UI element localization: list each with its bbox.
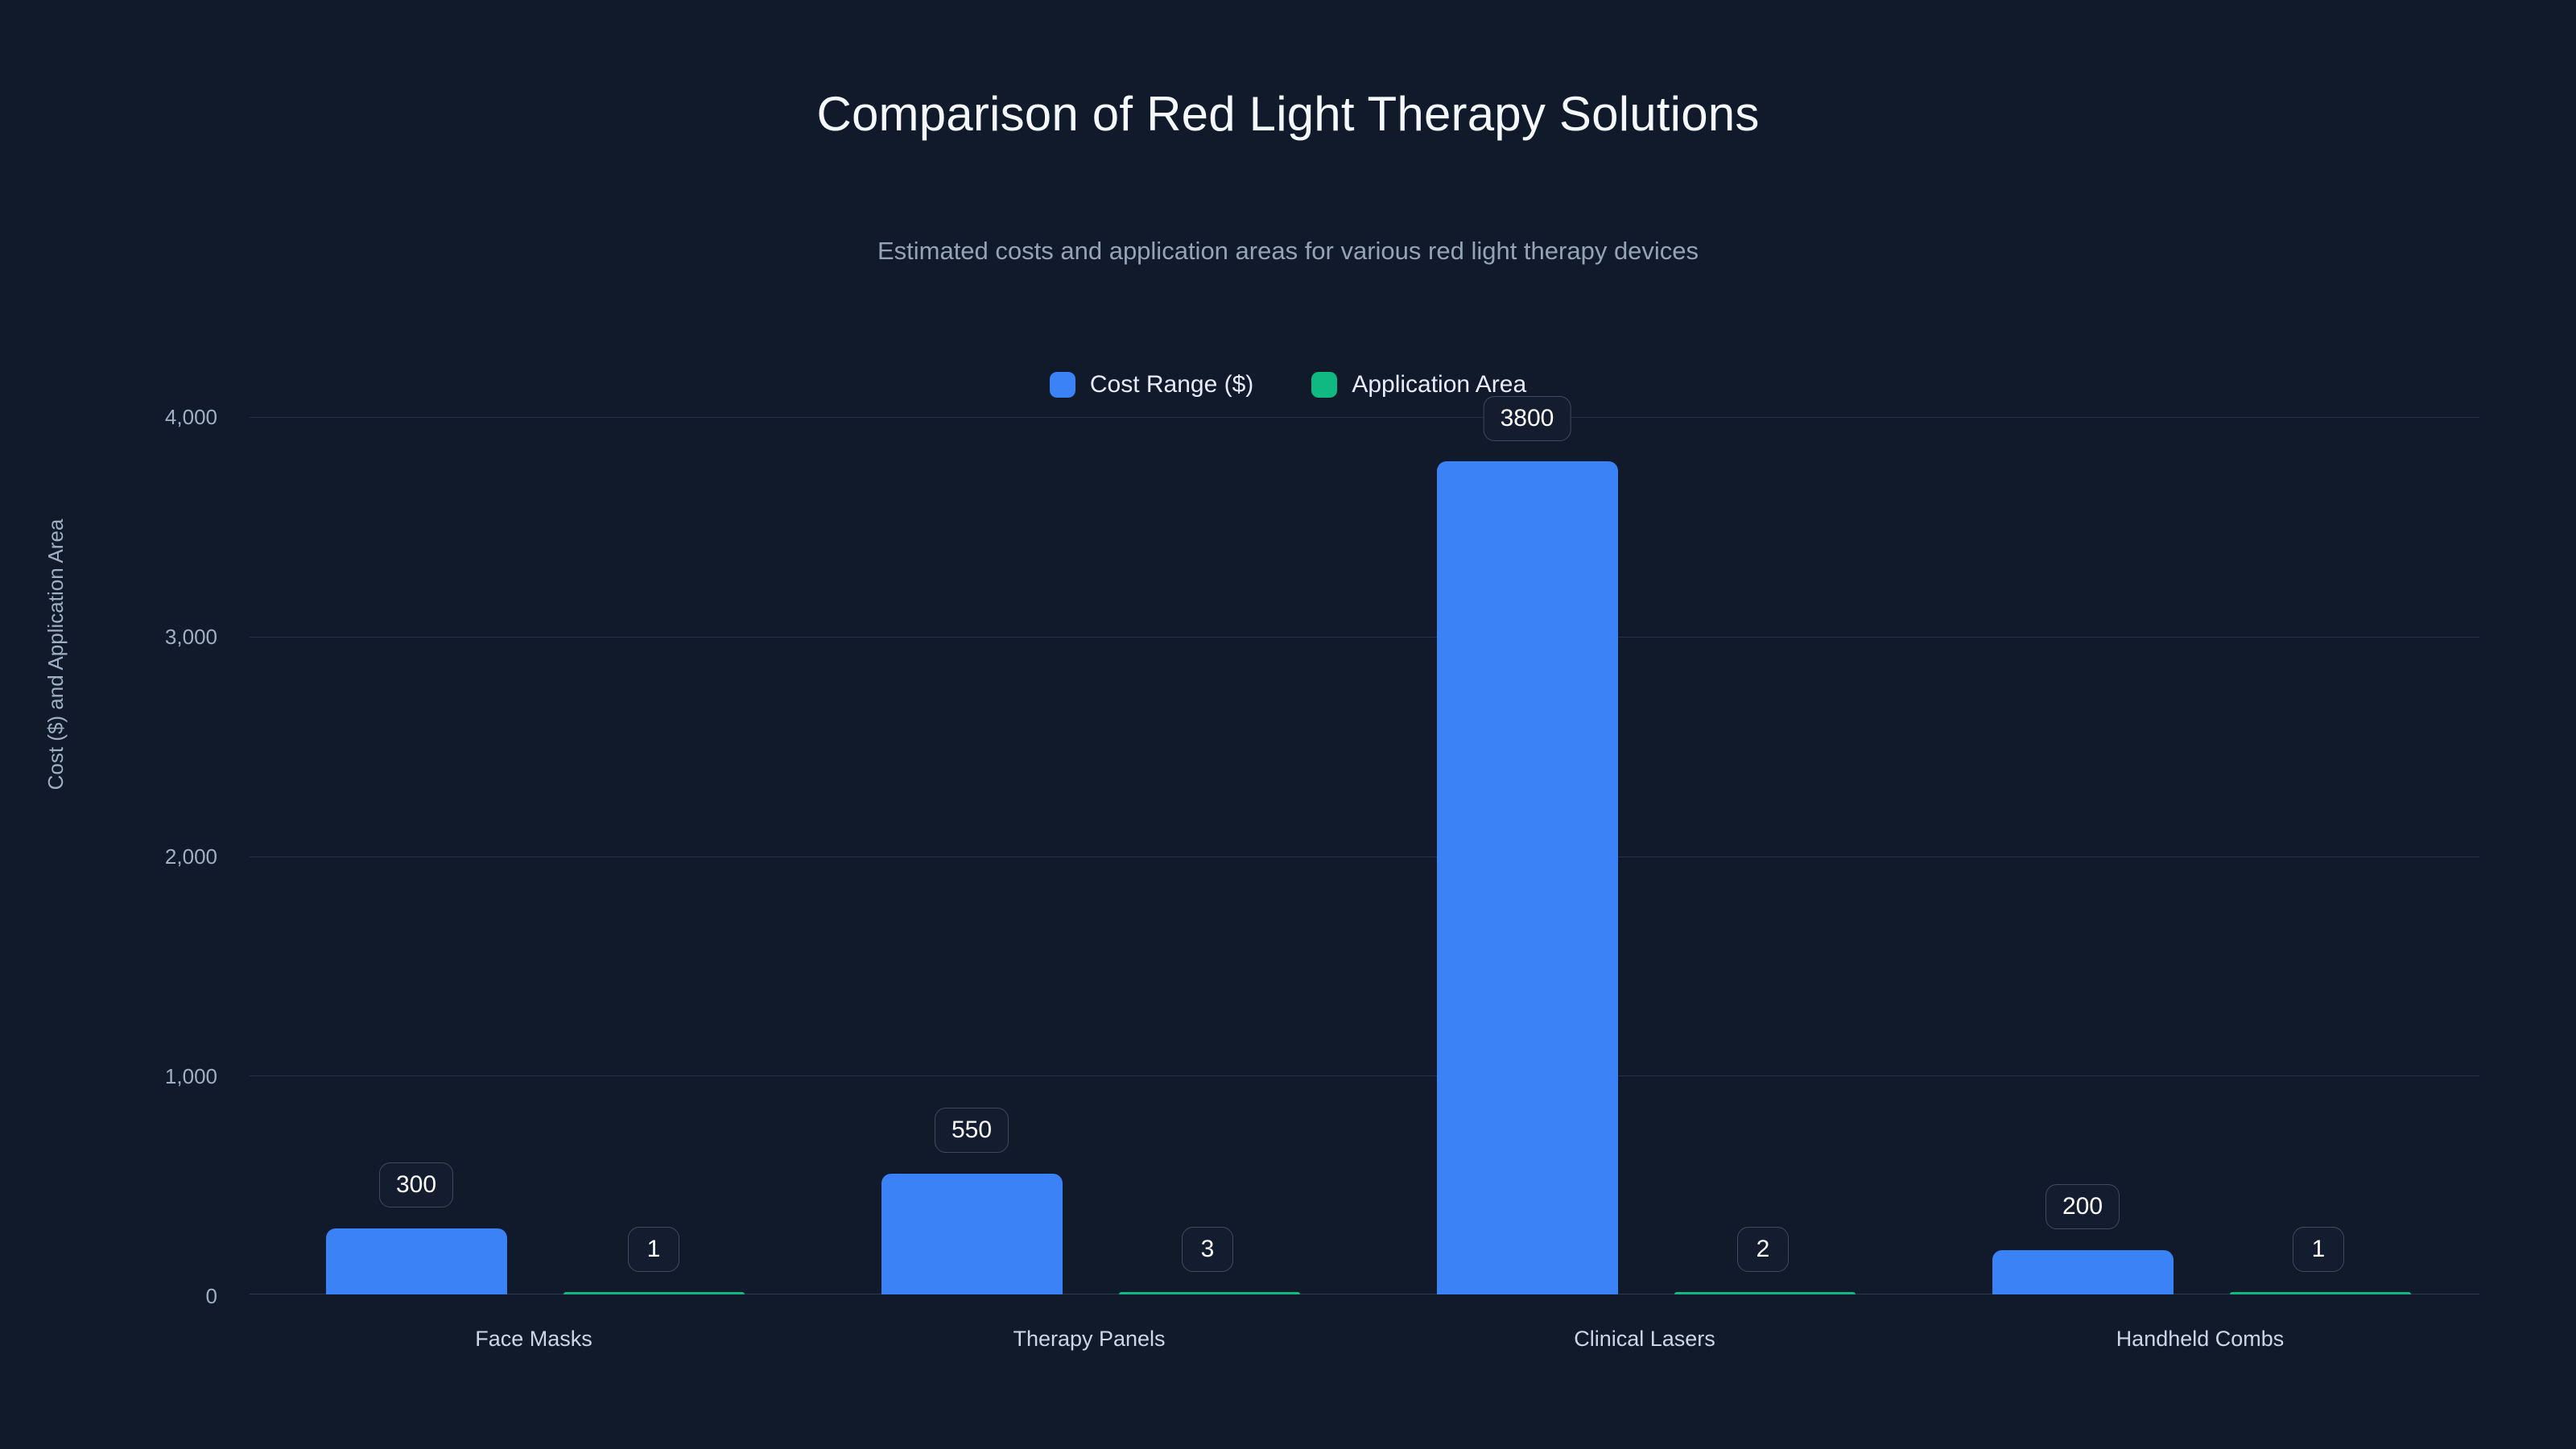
y-tick-label-3000: 3,000 [64, 626, 217, 647]
bar-application-area-face-masks[interactable] [563, 1292, 745, 1294]
value-label-cost-range-face-masks: 300 [379, 1162, 453, 1207]
value-label-application-area-handheld-combs: 1 [2293, 1227, 2344, 1272]
bar-cost-range-face-masks[interactable] [326, 1228, 507, 1294]
chart-legend: Cost Range ($) Application Area [0, 372, 2576, 398]
gridline-2000 [250, 857, 2479, 857]
x-category-label-handheld-combs: Handheld Combs [2116, 1328, 2285, 1350]
bar-cost-range-clinical-lasers[interactable] [1437, 461, 1618, 1294]
legend-item-application-area[interactable]: Application Area [1311, 372, 1526, 398]
chart-subtitle: Estimated costs and application areas fo… [0, 238, 2576, 263]
chart-title: Comparison of Red Light Therapy Solution… [0, 90, 2576, 138]
x-category-label-face-masks: Face Masks [475, 1328, 592, 1350]
chart-container: Comparison of Red Light Therapy Solution… [0, 0, 2576, 1449]
value-label-cost-range-handheld-combs: 200 [2046, 1184, 2120, 1229]
value-label-cost-range-clinical-lasers: 3800 [1484, 396, 1571, 441]
y-tick-label-2000: 2,000 [64, 846, 217, 867]
gridline-4000 [250, 417, 2479, 418]
x-category-label-therapy-panels: Therapy Panels [1013, 1328, 1165, 1350]
y-axis-title: Cost ($) and Application Area [45, 453, 66, 856]
value-label-application-area-clinical-lasers: 2 [1737, 1227, 1789, 1272]
legend-label-cost-range: Cost Range ($) [1090, 373, 1253, 397]
legend-label-application-area: Application Area [1352, 373, 1526, 397]
y-tick-label-1000: 1,000 [64, 1066, 217, 1087]
bar-cost-range-therapy-panels[interactable] [881, 1174, 1063, 1294]
x-category-label-clinical-lasers: Clinical Lasers [1574, 1328, 1715, 1350]
gridline-3000 [250, 637, 2479, 638]
y-tick-label-4000: 4,000 [64, 407, 217, 427]
value-label-application-area-therapy-panels: 3 [1182, 1227, 1233, 1272]
gridline-1000 [250, 1075, 2479, 1076]
bar-application-area-handheld-combs[interactable] [2230, 1292, 2411, 1294]
bar-cost-range-handheld-combs[interactable] [1992, 1250, 2173, 1294]
value-label-application-area-face-masks: 1 [628, 1227, 679, 1272]
plot-area [250, 417, 2479, 1294]
value-label-cost-range-therapy-panels: 550 [935, 1108, 1009, 1153]
legend-swatch-application-area [1311, 372, 1337, 398]
bar-application-area-therapy-panels[interactable] [1119, 1292, 1300, 1294]
legend-item-cost-range[interactable]: Cost Range ($) [1050, 372, 1253, 398]
bar-application-area-clinical-lasers[interactable] [1674, 1292, 1856, 1294]
y-tick-label-0: 0 [64, 1286, 217, 1307]
legend-swatch-cost-range [1050, 372, 1075, 398]
